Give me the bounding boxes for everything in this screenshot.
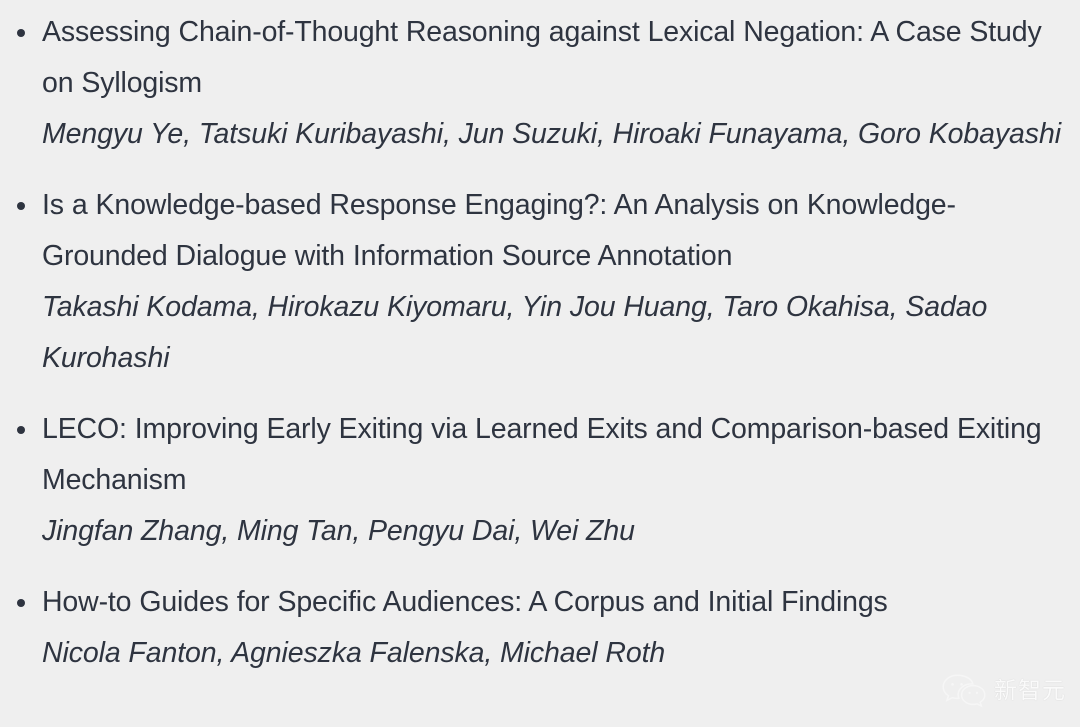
bullet-dot-icon — [17, 599, 25, 607]
paper-authors: Nicola Fanton, Agnieszka Falenska, Micha… — [42, 628, 1062, 679]
paper-authors: Jingfan Zhang, Ming Tan, Pengyu Dai, Wei… — [42, 506, 1062, 557]
paper-list: Assessing Chain-of-Thought Reasoning aga… — [0, 7, 1080, 699]
wechat-logo-icon — [941, 673, 987, 709]
paper-title: Is a Knowledge-based Response Engaging?:… — [42, 180, 1062, 282]
paper-title: Assessing Chain-of-Thought Reasoning aga… — [42, 7, 1062, 109]
paper-title: LECO: Improving Early Exiting via Learne… — [42, 404, 1062, 506]
paper-authors: Takashi Kodama, Hirokazu Kiyomaru, Yin J… — [42, 282, 1062, 384]
bullet-dot-icon — [17, 202, 25, 210]
list-item: Is a Knowledge-based Response Engaging?:… — [0, 180, 1080, 384]
list-item: Assessing Chain-of-Thought Reasoning aga… — [0, 7, 1080, 160]
bullet-dot-icon — [17, 426, 25, 434]
bullet-dot-icon — [17, 29, 25, 37]
paper-title: How-to Guides for Specific Audiences: A … — [42, 577, 1062, 628]
list-item: LECO: Improving Early Exiting via Learne… — [0, 404, 1080, 557]
watermark: 新智元 — [941, 673, 1066, 709]
list-item: How-to Guides for Specific Audiences: A … — [0, 577, 1080, 679]
watermark-text: 新智元 — [994, 680, 1066, 703]
paper-authors: Mengyu Ye, Tatsuki Kuribayashi, Jun Suzu… — [42, 109, 1062, 160]
